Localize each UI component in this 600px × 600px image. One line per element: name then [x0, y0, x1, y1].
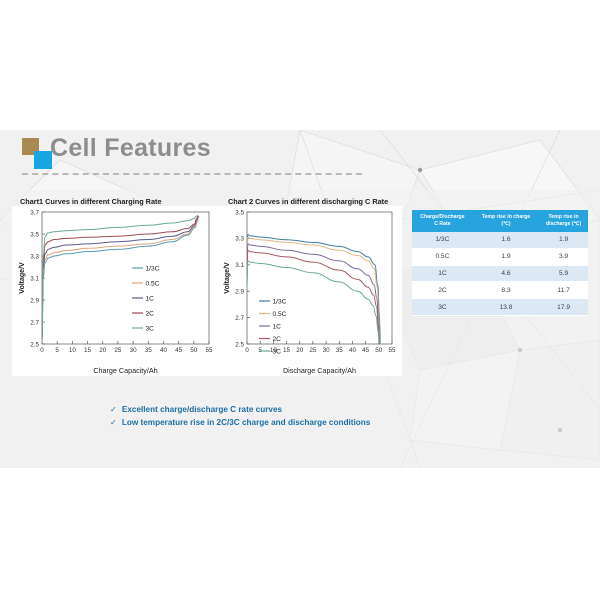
table-cell: 3.9	[539, 248, 588, 265]
table-cell: 5.9	[539, 265, 588, 282]
svg-text:50: 50	[375, 347, 383, 354]
bullet-item: ✓Excellent charge/discharge C rate curve…	[110, 404, 370, 417]
feature-bullets: ✓Excellent charge/discharge C rate curve…	[110, 404, 370, 429]
svg-text:10: 10	[69, 347, 77, 354]
table-cell: 11.7	[539, 282, 588, 299]
svg-text:40: 40	[160, 347, 168, 354]
svg-text:2.5: 2.5	[30, 341, 39, 348]
col-header-temp-charge: Temp rise in charge(℃)	[473, 210, 539, 232]
svg-text:Discharge Capacity/Ah: Discharge Capacity/Ah	[283, 366, 356, 375]
svg-text:3.3: 3.3	[30, 253, 39, 260]
table-cell: 1/3C	[412, 232, 473, 248]
svg-text:3.3: 3.3	[235, 236, 244, 243]
table-cell: 2C	[412, 282, 473, 299]
check-icon: ✓	[110, 418, 117, 427]
table-row: 1/3C1.61.9	[412, 232, 588, 248]
svg-text:50: 50	[190, 347, 198, 354]
svg-text:0: 0	[245, 347, 249, 354]
svg-text:Charge Capacity/Ah: Charge Capacity/Ah	[93, 366, 157, 375]
svg-text:0.5C: 0.5C	[146, 280, 160, 287]
table-head: Charge/DischargeC Rate Temp rise in char…	[412, 210, 588, 232]
svg-text:3.5: 3.5	[30, 231, 39, 238]
chart-charging-rate: 2.52.72.93.13.33.53.70510152025303540455…	[12, 206, 217, 376]
table-row: 0.5C1.93.9	[412, 248, 588, 265]
title-divider	[22, 173, 362, 175]
col-header-c-rate: Charge/DischargeC Rate	[412, 210, 473, 232]
table-cell: 1C	[412, 265, 473, 282]
svg-text:Voltage/V: Voltage/V	[19, 262, 26, 294]
svg-text:55: 55	[205, 347, 213, 354]
svg-text:30: 30	[323, 347, 331, 354]
bullet-text: Low temperature rise in 2C/3C charge and…	[122, 418, 370, 427]
svg-text:2.9: 2.9	[235, 289, 244, 296]
table-cell: 3C	[412, 299, 473, 316]
svg-text:3.1: 3.1	[235, 262, 244, 269]
chart-discharging-rate: 2.52.72.93.13.33.50510152025303540455055…	[217, 206, 402, 376]
table-row: 3C13.817.9	[412, 299, 588, 316]
svg-text:2.9: 2.9	[30, 297, 39, 304]
svg-text:2C: 2C	[273, 336, 282, 343]
svg-text:20: 20	[296, 347, 304, 354]
svg-text:35: 35	[336, 347, 344, 354]
svg-text:20: 20	[99, 347, 107, 354]
svg-text:1/3C: 1/3C	[273, 298, 287, 305]
svg-text:15: 15	[283, 347, 291, 354]
table-row: 1C4.65.9	[412, 265, 588, 282]
svg-text:Voltage/V: Voltage/V	[224, 262, 231, 294]
table-cell: 1.9	[473, 248, 539, 265]
svg-text:1/3C: 1/3C	[146, 265, 160, 272]
svg-text:5: 5	[55, 347, 59, 354]
table-cell: 13.8	[473, 299, 539, 316]
table-cell: 0.5C	[412, 248, 473, 265]
svg-text:2.5: 2.5	[235, 341, 244, 348]
svg-text:30: 30	[130, 347, 138, 354]
svg-text:2.7: 2.7	[235, 315, 244, 322]
svg-text:25: 25	[114, 347, 122, 354]
svg-text:0: 0	[40, 347, 44, 354]
slide-canvas: Cell Features Chart1 Curves in different…	[0, 130, 600, 468]
svg-text:1C: 1C	[146, 295, 155, 302]
svg-text:3.5: 3.5	[235, 209, 244, 216]
table-body: 1/3C1.61.90.5C1.93.91C4.65.92C8.311.73C1…	[412, 232, 588, 315]
page-title: Cell Features	[50, 134, 211, 163]
bullet-item: ✓Low temperature rise in 2C/3C charge an…	[110, 417, 370, 430]
svg-text:2C: 2C	[146, 310, 155, 317]
table-row: 2C8.311.7	[412, 282, 588, 299]
check-icon: ✓	[110, 405, 117, 414]
chart2-caption: Chart 2 Curves in different discharging …	[228, 197, 388, 206]
svg-text:45: 45	[175, 347, 183, 354]
svg-text:0.5C: 0.5C	[273, 311, 287, 318]
svg-text:3C: 3C	[273, 348, 282, 355]
table-cell: 1.9	[539, 232, 588, 248]
table-cell: 8.3	[473, 282, 539, 299]
svg-text:3C: 3C	[146, 325, 155, 332]
svg-text:40: 40	[349, 347, 357, 354]
bullet-text: Excellent charge/discharge C rate curves	[122, 405, 282, 414]
temp-rise-table: Charge/DischargeC Rate Temp rise in char…	[412, 210, 588, 316]
table-cell: 17.9	[539, 299, 588, 316]
svg-text:2.7: 2.7	[30, 319, 39, 326]
svg-text:35: 35	[145, 347, 153, 354]
svg-text:3.1: 3.1	[30, 275, 39, 282]
svg-text:1C: 1C	[273, 323, 282, 330]
svg-text:15: 15	[84, 347, 92, 354]
svg-text:25: 25	[309, 347, 317, 354]
svg-text:45: 45	[362, 347, 370, 354]
chart1-caption: Chart1 Curves in different Charging Rate	[20, 197, 162, 206]
table-cell: 1.6	[473, 232, 539, 248]
table-header-row: Charge/DischargeC Rate Temp rise in char…	[412, 210, 588, 232]
svg-text:55: 55	[388, 347, 396, 354]
svg-text:3.7: 3.7	[30, 209, 39, 216]
table-cell: 4.6	[473, 265, 539, 282]
col-header-temp-discharge: Temp rise indischarge (℃)	[539, 210, 588, 232]
charts-panel: 2.52.72.93.13.33.53.70510152025303540455…	[12, 206, 402, 376]
